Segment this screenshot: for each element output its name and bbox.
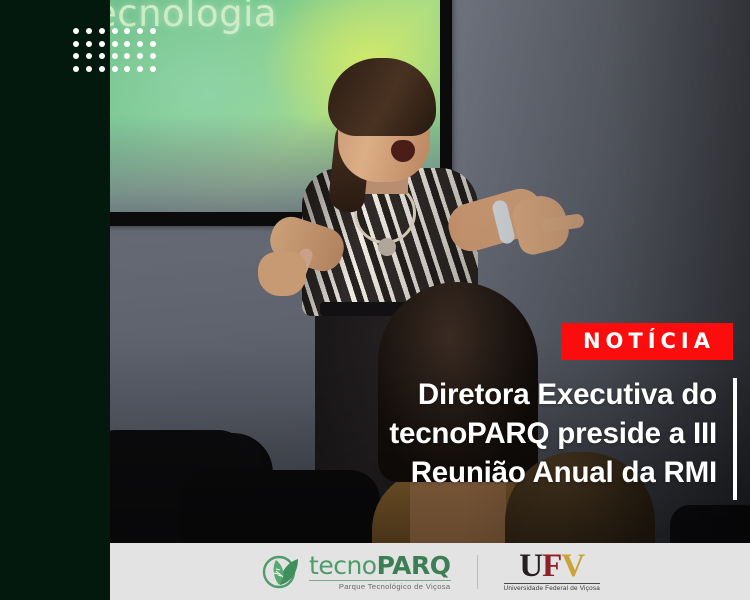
dot [86,28,92,34]
dot [124,53,130,59]
dot [73,41,79,47]
dot [86,53,92,59]
logo-tecnoparq-wordmark: tecnoPARQ [309,553,450,578]
dot [137,28,143,34]
dot [112,28,118,34]
dot [73,66,79,72]
dot [99,41,105,47]
headline-accent-rule [733,378,737,500]
dot [73,53,79,59]
dot [99,28,105,34]
dot [137,66,143,72]
page-title: Diretora Executiva do tecnoPARQ preside … [297,375,717,493]
dot [124,28,130,34]
dot [150,53,156,59]
dot [112,66,118,72]
logo-tecnoparq[interactable]: tecnoPARQ Parque Tecnológico de Viçosa [260,553,450,591]
dot [99,66,105,72]
dot [86,66,92,72]
dot [137,53,143,59]
dot [86,41,92,47]
dot-grid-decoration [73,28,163,78]
dot [150,66,156,72]
status-badge: NOTÍCIA [561,323,733,360]
dot [112,41,118,47]
logo-ufv-letters: UFV [519,551,584,582]
dot [137,41,143,47]
footer-logo-bar: tecnoPARQ Parque Tecnológico de Viçosa U… [110,543,750,600]
left-accent-band [0,0,110,600]
logo-tecnoparq-subtitle: Parque Tecnológico de Viçosa [309,580,450,591]
dot [124,66,130,72]
dot [124,41,130,47]
dot [112,53,118,59]
news-banner: ecnologia [0,0,750,600]
logo-ufv[interactable]: UFV Universidade Federal de Viçosa [504,551,600,593]
dot [73,28,79,34]
dot [150,28,156,34]
logo-ufv-subtitle: Universidade Federal de Viçosa [504,583,600,593]
logo-divider [477,555,478,589]
dot [150,41,156,47]
leaf-icon [260,555,304,589]
dot [99,53,105,59]
